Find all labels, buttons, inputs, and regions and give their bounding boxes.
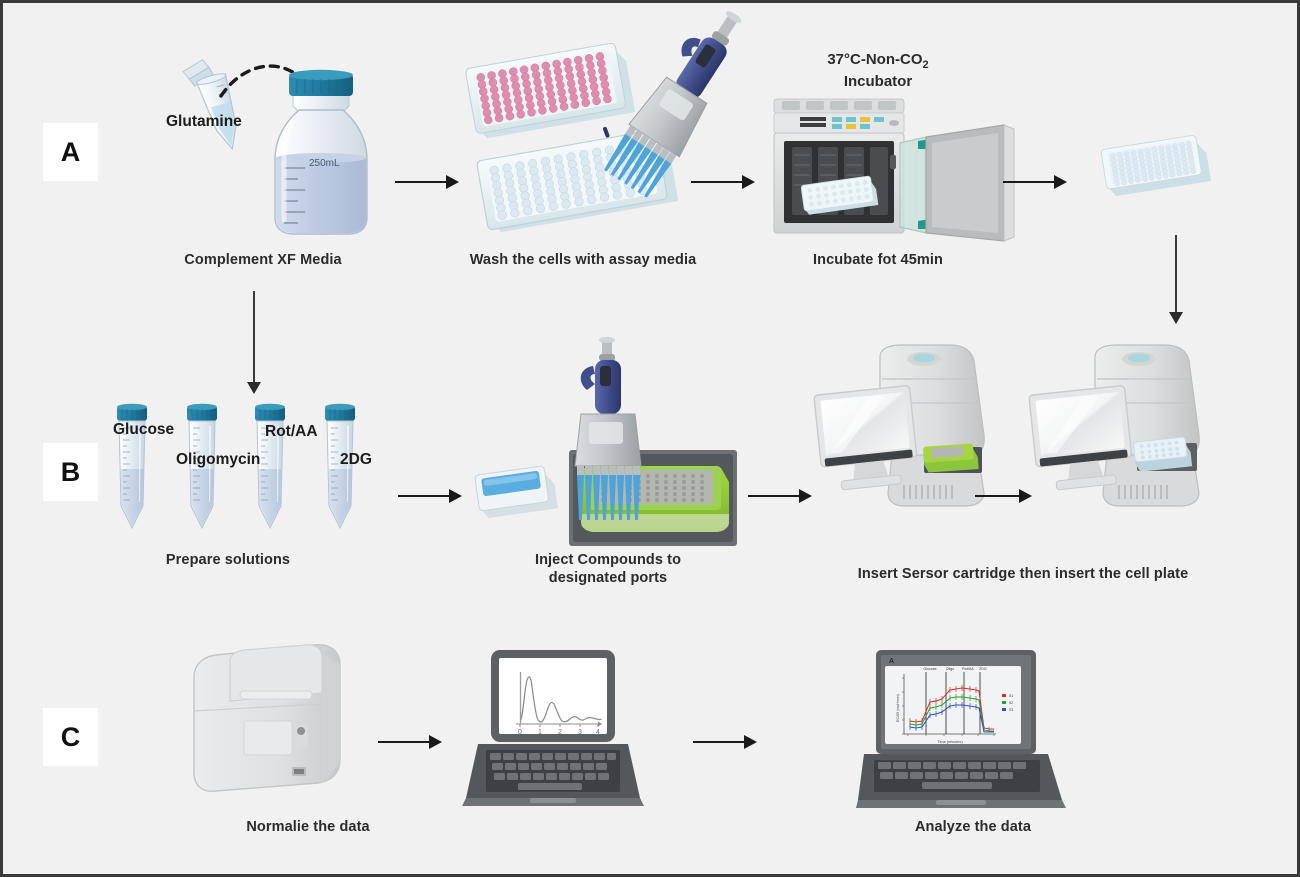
tube-label-rotaa: Rot/AA [265, 423, 318, 441]
caption-normalize-data: Normalie the data [178, 818, 438, 836]
media-bottle [275, 70, 367, 234]
svg-text:Glucose: Glucose [923, 667, 936, 671]
incubator-title-line2: Incubator [844, 73, 912, 90]
plate-reader-illustration [188, 643, 373, 803]
svg-text:4: 4 [596, 729, 600, 736]
inject-compounds-illustration [473, 338, 743, 543]
caption-analyze-data: Analyze the data [843, 818, 1103, 836]
arrow-a-to-b-left [253, 291, 255, 383]
caption-wash-cells: Wash the cells with assay media [418, 251, 748, 269]
caption-prepare-solutions: Prepare solutions [98, 551, 358, 569]
arrow-c1 [378, 741, 440, 743]
caption-inject-line1: Inject Compounds to [535, 552, 681, 568]
panel-label-b: B [43, 443, 98, 501]
svg-text:S3: S3 [1009, 708, 1013, 712]
inserted-cell-plate [1133, 436, 1192, 472]
incubator-title-sub: 2 [923, 59, 929, 71]
caption-inject-line2: designated ports [549, 570, 667, 586]
svg-text:1: 1 [538, 729, 542, 736]
incubator-title-line1: 37°C-Non-CO [827, 51, 922, 68]
arrow-a-to-b-right [1175, 235, 1177, 313]
svg-text:Time (minutes): Time (minutes) [937, 740, 963, 744]
incubator-illustration [768, 95, 1028, 245]
panel-label-c: C [43, 708, 98, 766]
svg-text:Rot/AA: Rot/AA [962, 667, 974, 671]
bottle-volume-text: 250mL [309, 158, 340, 169]
arrow-a1 [395, 181, 457, 183]
reagent-reservoir [475, 465, 558, 519]
pink-well-plate [465, 41, 635, 140]
tube-label-2dg: 2DG [340, 451, 372, 469]
arrow-b1 [398, 495, 460, 497]
incubator-title: 37°C-Non-CO2 Incubator [763, 51, 993, 92]
caption-complement-media: Complement XF Media [113, 251, 413, 269]
arrow-b3 [975, 495, 1030, 497]
svg-text:3: 3 [578, 729, 582, 736]
svg-text:Oligo: Oligo [946, 667, 954, 671]
tube-label-oligomycin: Oligomycin [176, 451, 260, 469]
eppendorf-tube [181, 55, 245, 156]
arrow-b2 [748, 495, 810, 497]
figure-canvas: A B C [0, 0, 1300, 877]
laptop-normalization: 012 34 [458, 648, 648, 813]
arrow-a2 [691, 181, 753, 183]
laptop-analysis: A ECAR (mpH/min) Time (minutes) [858, 648, 1073, 813]
analysis-panel-marker: A [889, 658, 894, 665]
inserted-sensor-cartridge [923, 443, 979, 473]
complement-media-illustration: 250mL [153, 48, 403, 248]
caption-insert-cartridge: Insert Sersor cartridge then insert the … [773, 565, 1273, 583]
caption-incubate: Incubate fot 45min [733, 251, 1023, 269]
assay-plate-illustration [1093, 128, 1223, 223]
tube-label-glucose: Glucose [113, 421, 174, 439]
panel-label-a: A [43, 123, 98, 181]
analyzer-cellplate-illustration [1033, 343, 1253, 518]
svg-text:ECAR (mpH/min): ECAR (mpH/min) [896, 694, 900, 722]
svg-text:S1: S1 [1009, 694, 1013, 698]
caption-inject-compounds: Inject Compounds to designated ports [483, 551, 733, 587]
analyzer-cartridge-illustration [818, 343, 1038, 518]
svg-text:0: 0 [518, 729, 522, 736]
arrow-c2 [693, 741, 755, 743]
falcon-tubes-illustration [103, 398, 413, 543]
wash-cells-illustration [453, 41, 763, 256]
svg-text:2DG: 2DG [979, 667, 987, 671]
arrow-a3 [1003, 181, 1065, 183]
glutamine-label: Glutamine [166, 113, 242, 131]
svg-text:S2: S2 [1009, 701, 1013, 705]
svg-text:2: 2 [558, 729, 562, 736]
